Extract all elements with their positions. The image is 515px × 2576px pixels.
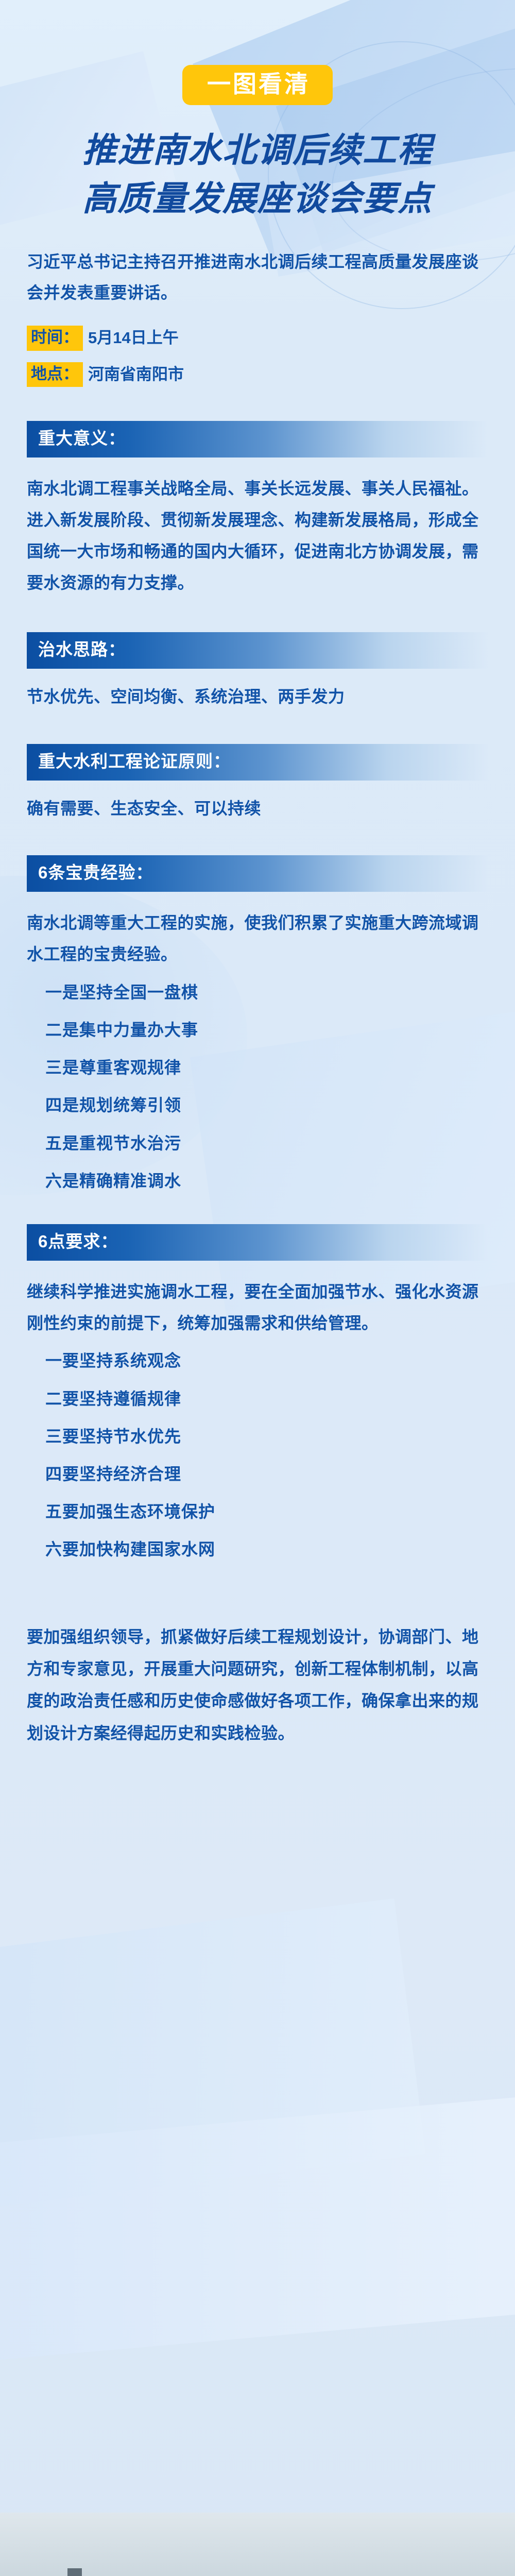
closing-paragraph: 要加强组织领导，抓紧做好后续工程规划设计，协调部门、地方和专家意见，开展重大问题… bbox=[27, 1621, 488, 1750]
experience-list: 一是坚持全国一盘棋 二是集中力量办大事 三是尊重客观规律 四是规划统筹引领 五是… bbox=[27, 984, 488, 1190]
page-title-line-1: 推进南水北调后续工程 bbox=[27, 127, 488, 175]
list-item: 四要坚持经济合理 bbox=[27, 1465, 488, 1483]
meta-row-place: 地点： 河南省南阳市 bbox=[27, 362, 488, 387]
list-item: 三要坚持节水优先 bbox=[27, 1428, 488, 1446]
meta-block: 时间： 5月14日上午 地点： 河南省南阳市 bbox=[27, 326, 488, 387]
bridge-photo: 南水北调中线工程 新华社国内部出品 新华网 WWW.NEWS.CN bbox=[0, 2513, 515, 2576]
list-item: 六是精确精准调水 bbox=[27, 1172, 488, 1190]
section-body: 确有需要、生态安全、可以持续 bbox=[27, 796, 488, 822]
section-heading: 6条宝贵经验： bbox=[27, 855, 488, 892]
badge-row: 一图看清 bbox=[27, 0, 488, 105]
section-heading: 重大意义： bbox=[27, 421, 488, 457]
list-item: 一要坚持系统观念 bbox=[27, 1352, 488, 1370]
section-project-principles: 重大水利工程论证原则： 确有需要、生态安全、可以持续 bbox=[27, 744, 488, 821]
section-body: 南水北调工程事关战略全局、事关长远发展、事关人民福祉。进入新发展阶段、贯彻新发展… bbox=[27, 473, 488, 598]
list-item: 二要坚持遵循规律 bbox=[27, 1390, 488, 1408]
list-item: 四是规划统筹引领 bbox=[27, 1096, 488, 1114]
section-body: 南水北调等重大工程的实施，使我们积累了实施重大跨流域调水工程的宝贵经验。 bbox=[27, 907, 488, 970]
decor-swoosh-6 bbox=[0, 1899, 425, 2223]
section-body: 节水优先、空间均衡、系统治理、两手发力 bbox=[27, 684, 488, 710]
place-value: 河南省南阳市 bbox=[88, 365, 184, 385]
section-heading: 6点要求： bbox=[27, 1224, 488, 1261]
list-item: 六要加快构建国家水网 bbox=[27, 1540, 488, 1558]
infographic-page: 一图看清 推进南水北调后续工程 高质量发展座谈会要点 习近平总书记主持召开推进南… bbox=[0, 0, 515, 2576]
meta-row-time: 时间： 5月14日上午 bbox=[27, 326, 488, 351]
list-item: 三是尊重客观规律 bbox=[27, 1059, 488, 1077]
time-label: 时间： bbox=[27, 326, 83, 351]
requirement-list: 一要坚持系统观念 二要坚持遵循规律 三要坚持节水优先 四要坚持经济合理 五要加强… bbox=[27, 1352, 488, 1558]
light-tower-head bbox=[67, 2568, 82, 2576]
list-item: 一是坚持全国一盘棋 bbox=[27, 984, 488, 1002]
decor-swoosh-7 bbox=[0, 2094, 515, 2368]
section-six-requirements: 6点要求： 继续科学推进实施调水工程，要在全面加强节水、强化水资源刚性约束的前提… bbox=[27, 1224, 488, 1559]
list-item: 五是重视节水治污 bbox=[27, 1134, 488, 1153]
section-heading: 重大水利工程论证原则： bbox=[27, 744, 488, 781]
place-label: 地点： bbox=[27, 362, 83, 387]
intro-paragraph: 习近平总书记主持召开推进南水北调后续工程高质量发展座谈会并发表重要讲话。 bbox=[27, 247, 488, 308]
one-image-badge: 一图看清 bbox=[182, 65, 333, 105]
photo-sky bbox=[0, 2513, 515, 2576]
page-title-line-2: 高质量发展座谈会要点 bbox=[27, 175, 488, 224]
content-column: 一图看清 推进南水北调后续工程 高质量发展座谈会要点 习近平总书记主持召开推进南… bbox=[0, 0, 515, 1749]
section-water-approach: 治水思路： 节水优先、空间均衡、系统治理、两手发力 bbox=[27, 632, 488, 709]
list-item: 五要加强生态环境保护 bbox=[27, 1503, 488, 1521]
section-six-experiences: 6条宝贵经验： 南水北调等重大工程的实施，使我们积累了实施重大跨流域调水工程的宝… bbox=[27, 855, 488, 1190]
section-body: 继续科学推进实施调水工程，要在全面加强节水、强化水资源刚性约束的前提下，统筹加强… bbox=[27, 1276, 488, 1339]
section-heading: 治水思路： bbox=[27, 632, 488, 669]
section-significance: 重大意义： 南水北调工程事关战略全局、事关长远发展、事关人民福祉。进入新发展阶段… bbox=[27, 421, 488, 598]
page-title: 推进南水北调后续工程 高质量发展座谈会要点 bbox=[27, 127, 488, 223]
list-item: 二是集中力量办大事 bbox=[27, 1021, 488, 1039]
time-value: 5月14日上午 bbox=[88, 328, 179, 348]
